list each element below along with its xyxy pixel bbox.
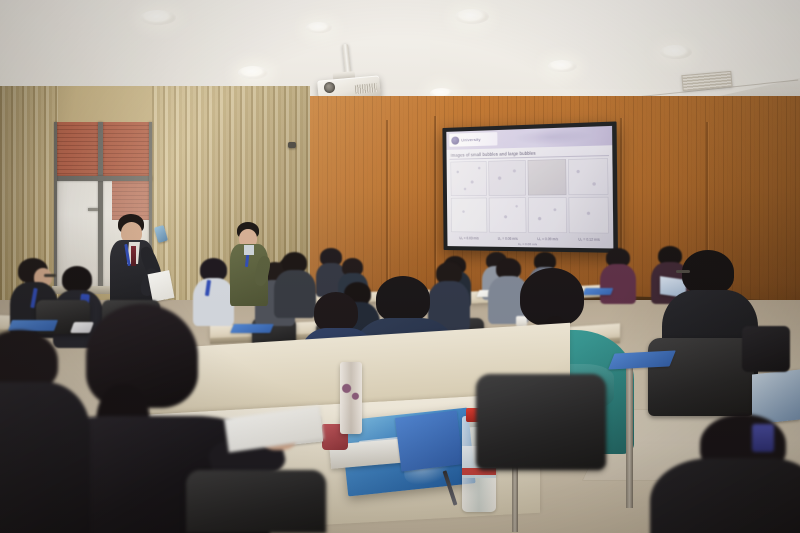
slide-caption: U₀ = 0.06 m/s: [489, 236, 526, 241]
conference-folder: [395, 410, 463, 471]
hair: [376, 276, 430, 322]
projection-screen: University Images of small bubbles and l…: [442, 121, 618, 252]
wall-panel-seam-1: [386, 120, 388, 300]
office-chair: [476, 374, 606, 470]
downlight-icon-3: [455, 9, 489, 24]
conference-room-photo: University Images of small bubbles and l…: [0, 0, 800, 533]
glasses-icon: [44, 274, 56, 277]
slide-cell: [569, 158, 609, 195]
slide-cell: [569, 197, 609, 233]
hair: [86, 304, 198, 408]
table-leg: [626, 368, 633, 508]
security-camera-icon: [288, 142, 296, 148]
downlight-icon-4: [548, 60, 577, 72]
conference-folder: [583, 288, 614, 295]
slide-cell: [489, 198, 526, 233]
lanyard: [752, 424, 774, 452]
slide-logo-text: University: [461, 137, 481, 142]
downlight-icon-2: [238, 66, 268, 79]
slide-caption: U₀ = 0.12 m/s: [569, 237, 608, 242]
hair: [314, 292, 358, 332]
slide-caption: U₀ = 0.09 m/s: [529, 237, 567, 242]
torso: [193, 278, 234, 326]
downlight-icon-7: [306, 22, 332, 33]
dark-jacket: [650, 458, 800, 533]
screen-surface: University Images of small bubbles and l…: [446, 126, 613, 249]
university-seal-icon: [451, 136, 459, 144]
slide-cell: [528, 197, 566, 233]
hair: [62, 266, 92, 292]
torso: [600, 264, 636, 304]
torso: [274, 270, 316, 318]
smartphone-on-desk: [70, 322, 94, 333]
slide-cell: [489, 160, 526, 195]
slide-cell: [451, 198, 487, 232]
dark-jacket: [0, 382, 90, 533]
slide-caption: U₀ = 0.03 m/s: [451, 236, 487, 240]
downlight-icon-1: [140, 10, 176, 25]
office-chair: [648, 338, 754, 416]
conference-folder: [230, 324, 274, 333]
bag: [742, 326, 790, 372]
slide-cell: [451, 161, 487, 196]
projector-vent-icon: [355, 83, 378, 94]
glasses-arm-icon: [676, 270, 690, 273]
office-chair: [186, 470, 326, 533]
necktie: [131, 246, 136, 266]
thermos-pattern: [340, 378, 362, 404]
downlight-icon-5: [660, 45, 692, 59]
slide-university-logo: University: [449, 132, 497, 147]
slide-watermark: [513, 128, 592, 146]
slide-image-grid: [451, 158, 609, 233]
slide-cell: [528, 159, 566, 195]
shirt-collar: [244, 245, 254, 255]
